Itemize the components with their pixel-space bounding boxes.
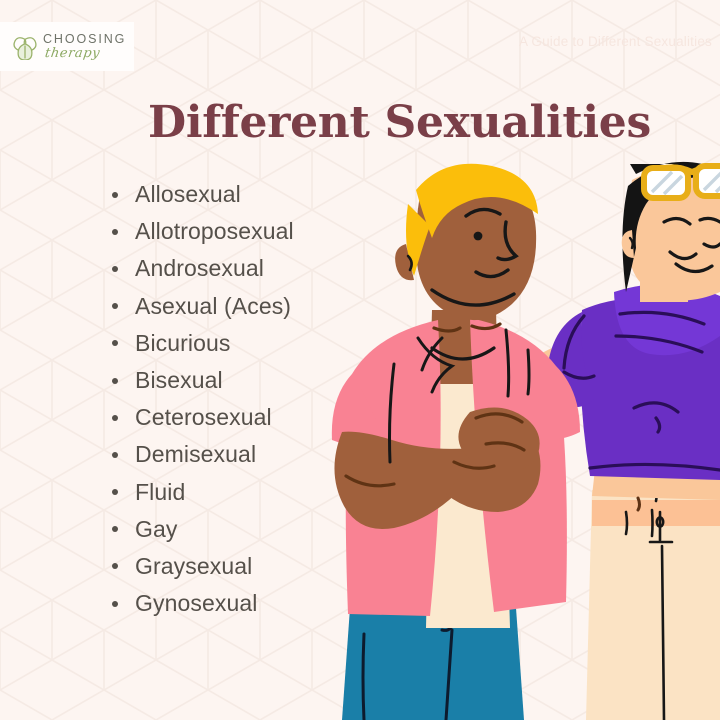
bullet-icon (112, 563, 118, 569)
bullet-icon (112, 526, 118, 532)
header: CHOOSING therapy A Guide to Different Se… (0, 0, 720, 78)
bullet-icon (112, 266, 118, 272)
glasses-icon (644, 166, 720, 198)
list-item-label: Graysexual (135, 553, 252, 580)
bullet-icon (112, 303, 118, 309)
header-tagline: A Guide to Different Sexualities (519, 34, 712, 49)
list-item-label: Ceterosexual (135, 404, 272, 431)
list-item: Gay (112, 511, 294, 548)
list-item: Graysexual (112, 548, 294, 585)
two-people-embracing-illustration (320, 160, 720, 720)
person-left (332, 164, 580, 720)
list-item: Asexual (Aces) (112, 288, 294, 325)
bullet-icon (112, 601, 118, 607)
list-item: Fluid (112, 474, 294, 511)
bullet-icon (112, 378, 118, 384)
list-item-label: Allosexual (135, 181, 241, 208)
list-item: Androsexual (112, 250, 294, 287)
list-item: Ceterosexual (112, 399, 294, 436)
page-title: Different Sexualities (148, 97, 651, 148)
list-item-label: Allotroposexual (135, 218, 294, 245)
list-item-label: Gay (135, 516, 177, 543)
list-item-label: Bisexual (135, 367, 223, 394)
list-item-label: Bicurious (135, 330, 231, 357)
bullet-icon (112, 340, 118, 346)
list-item: Bicurious (112, 325, 294, 362)
bullet-icon (112, 192, 118, 198)
list-item-label: Gynosexual (135, 590, 257, 617)
bullet-icon (112, 229, 118, 235)
list-item-label: Fluid (135, 479, 185, 506)
list-item-label: Androsexual (135, 255, 264, 282)
list-item-label: Demisexual (135, 441, 256, 468)
logo[interactable]: CHOOSING therapy (0, 22, 134, 71)
logo-text: CHOOSING therapy (43, 33, 126, 61)
list-item: Gynosexual (112, 585, 294, 622)
list-item: Allosexual (112, 176, 294, 213)
list-item-label: Asexual (Aces) (135, 293, 291, 320)
list-item: Demisexual (112, 436, 294, 473)
bullet-icon (112, 489, 118, 495)
bullet-icon (112, 415, 118, 421)
leaf-lotus-icon (12, 34, 38, 60)
logo-word-therapy: therapy (44, 47, 127, 60)
bullet-icon (112, 452, 118, 458)
logo-word-choosing: CHOOSING (43, 33, 126, 46)
list-item: Bisexual (112, 362, 294, 399)
sexualities-list: AllosexualAllotroposexualAndrosexualAsex… (112, 176, 294, 622)
list-item: Allotroposexual (112, 213, 294, 250)
